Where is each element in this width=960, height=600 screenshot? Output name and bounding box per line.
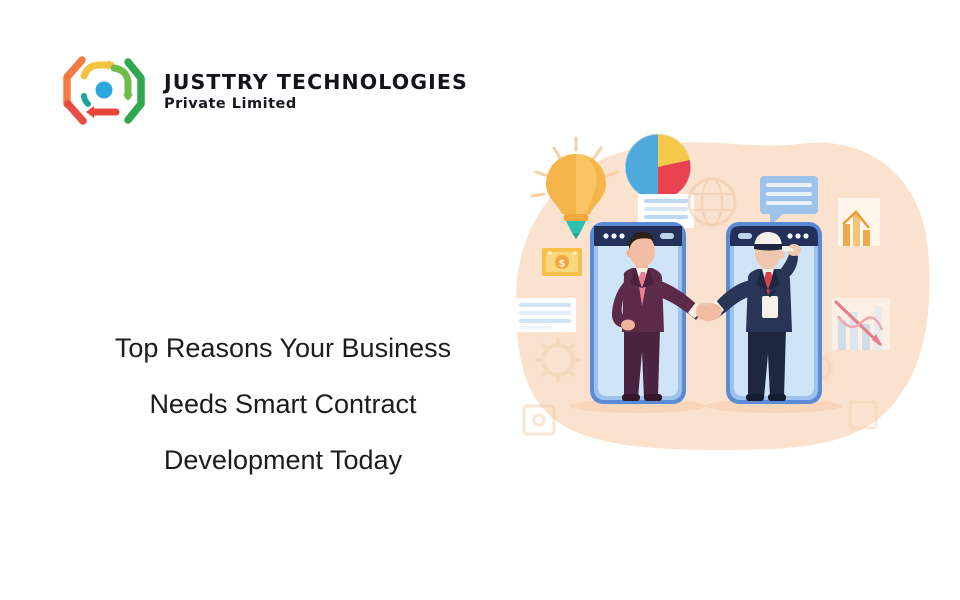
brand-subtitle: Private Limited	[164, 97, 468, 112]
page-title: Top Reasons Your Business Needs Smart Co…	[52, 320, 514, 488]
brand-text-block: JUSTTRY TECHNOLOGIES Private Limited	[164, 70, 468, 112]
headline-line-2: Needs Smart Contract	[52, 376, 514, 432]
text-lines-card-icon	[514, 298, 576, 332]
svg-text:$: $	[559, 259, 566, 270]
headline-line-3: Development Today	[52, 432, 514, 488]
trend-chart-icon	[832, 298, 890, 350]
brand-name: JUSTTRY TECHNOLOGIES	[164, 72, 468, 94]
brand-block: JUSTTRY TECHNOLOGIES Private Limited	[58, 54, 468, 128]
money-card-icon: $	[542, 248, 582, 276]
banner-root: JUSTTRY TECHNOLOGIES Private Limited Top…	[0, 0, 960, 600]
justtry-hexagon-logo-icon	[58, 54, 150, 128]
smart-contract-handshake-illustration: $	[498, 120, 946, 460]
bar-card-icon	[838, 198, 880, 246]
headline-line-1: Top Reasons Your Business	[52, 320, 514, 376]
pie-chart-icon	[625, 134, 691, 200]
